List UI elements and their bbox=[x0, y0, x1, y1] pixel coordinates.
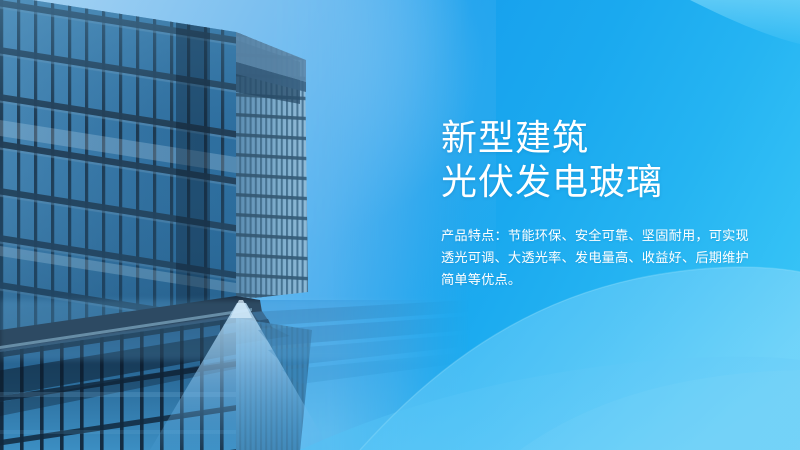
skyscraper-illustration bbox=[0, 0, 470, 450]
page-title: 新型建筑 光伏发电玻璃 bbox=[441, 116, 771, 204]
product-description: 产品特点：节能环保、安全可靠、坚固耐用，可实现透光可调、大透光率、发电量高、收益… bbox=[441, 225, 753, 291]
skyscraper-photo bbox=[0, 0, 470, 450]
copy-block: 新型建筑 光伏发电玻璃 产品特点：节能环保、安全可靠、坚固耐用，可实现透光可调、… bbox=[441, 116, 771, 291]
headline-line-1: 新型建筑 bbox=[441, 116, 771, 160]
headline-line-2: 光伏发电玻璃 bbox=[441, 160, 771, 204]
product-banner: 新型建筑 光伏发电玻璃 产品特点：节能环保、安全可靠、坚固耐用，可实现透光可调、… bbox=[0, 0, 800, 450]
